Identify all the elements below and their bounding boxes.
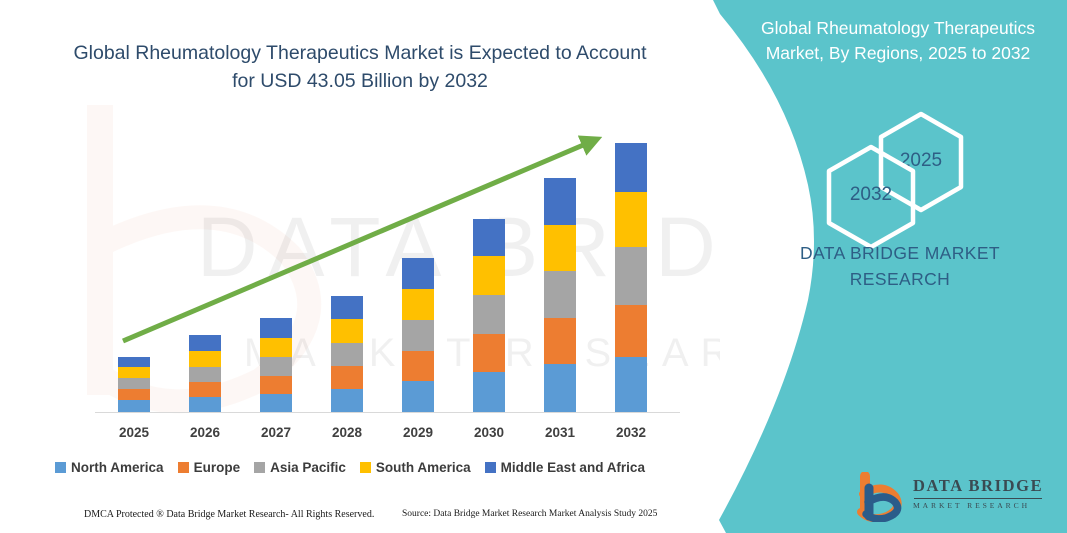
- bar-2031: [544, 178, 576, 412]
- x-axis-label-2030: 2030: [454, 425, 524, 440]
- logo-name: DATA BRIDGE: [913, 476, 1043, 496]
- legend-label: South America: [376, 460, 471, 475]
- x-axis-label-2026: 2026: [170, 425, 240, 440]
- legend-swatch-icon: [360, 462, 371, 473]
- bar-2029: [402, 258, 434, 412]
- bar-segment-europe: [260, 376, 292, 394]
- bar-segment-europe: [544, 318, 576, 364]
- bar-2026: [189, 335, 221, 412]
- panel-title: Global Rheumatology Therapeutics Market,…: [738, 16, 1058, 67]
- bar-segment-asia-pacific: [260, 357, 292, 376]
- bar-segment-middle-east-and-africa: [331, 296, 363, 319]
- bar-segment-middle-east-and-africa: [118, 357, 150, 367]
- bar-segment-europe: [473, 334, 505, 372]
- bar-segment-europe: [402, 351, 434, 381]
- x-axis-line: [95, 412, 680, 413]
- brand-name: DATA BRIDGE MARKET RESEARCH: [750, 240, 1050, 293]
- bar-2025: [118, 357, 150, 412]
- legend-swatch-icon: [178, 462, 189, 473]
- chart-panel: DATA BRIDGE MARKET RESEARCH Global Rheum…: [0, 0, 720, 533]
- bar-segment-north-america: [615, 357, 647, 412]
- hexagon-2032-label: 2032: [823, 184, 919, 206]
- logo-text: DATA BRIDGE MARKET RESEARCH: [913, 476, 1043, 510]
- bar-segment-north-america: [402, 381, 434, 412]
- bar-segment-europe: [118, 389, 150, 400]
- stacked-bar-chart: 20252026202720282029203020312032: [0, 0, 720, 533]
- bar-segment-middle-east-and-africa: [189, 335, 221, 351]
- bar-2032: [615, 143, 647, 412]
- logo-divider: [914, 498, 1042, 499]
- bar-segment-south-america: [260, 338, 292, 357]
- legend-swatch-icon: [485, 462, 496, 473]
- bar-segment-north-america: [189, 397, 221, 412]
- bar-segment-asia-pacific: [189, 367, 221, 382]
- legend-label: North America: [71, 460, 164, 475]
- bar-segment-middle-east-and-africa: [615, 143, 647, 192]
- copyright-notice: DMCA Protected ® Data Bridge Market Rese…: [84, 509, 374, 520]
- bar-segment-europe: [331, 366, 363, 389]
- bar-segment-middle-east-and-africa: [473, 219, 505, 256]
- legend-swatch-icon: [55, 462, 66, 473]
- legend-swatch-icon: [254, 462, 265, 473]
- legend-item-asia-pacific[interactable]: Asia Pacific: [254, 460, 346, 475]
- bar-segment-asia-pacific: [473, 295, 505, 334]
- growth-arrow-icon: [0, 0, 720, 533]
- x-axis-label-2028: 2028: [312, 425, 382, 440]
- bar-segment-asia-pacific: [402, 320, 434, 351]
- bar-segment-asia-pacific: [544, 271, 576, 318]
- bar-segment-north-america: [544, 364, 576, 412]
- x-axis-label-2029: 2029: [383, 425, 453, 440]
- bar-segment-middle-east-and-africa: [402, 258, 434, 289]
- legend-label: Middle East and Africa: [501, 460, 645, 475]
- data-bridge-logo: DATA BRIDGE MARKET RESEARCH: [853, 472, 1053, 524]
- bar-segment-south-america: [615, 192, 647, 247]
- bar-segment-europe: [189, 382, 221, 397]
- bar-segment-asia-pacific: [615, 247, 647, 305]
- bar-segment-north-america: [473, 372, 505, 412]
- legend-item-south-america[interactable]: South America: [360, 460, 471, 475]
- bar-segment-south-america: [189, 351, 221, 367]
- bar-segment-europe: [615, 305, 647, 357]
- x-axis-label-2032: 2032: [596, 425, 666, 440]
- bar-2027: [260, 318, 292, 412]
- legend-item-middle-east-and-africa[interactable]: Middle East and Africa: [485, 460, 645, 475]
- bar-2030: [473, 219, 505, 412]
- chart-legend: North AmericaEuropeAsia PacificSouth Ame…: [0, 460, 700, 475]
- bar-segment-north-america: [260, 394, 292, 412]
- legend-label: Asia Pacific: [270, 460, 346, 475]
- bar-segment-south-america: [331, 319, 363, 343]
- x-axis-label-2027: 2027: [241, 425, 311, 440]
- bar-segment-south-america: [402, 289, 434, 320]
- x-axis-label-2025: 2025: [99, 425, 169, 440]
- bar-segment-asia-pacific: [118, 378, 150, 389]
- legend-label: Europe: [194, 460, 241, 475]
- x-axis-label-2031: 2031: [525, 425, 595, 440]
- bar-segment-south-america: [118, 367, 150, 378]
- legend-item-north-america[interactable]: North America: [55, 460, 164, 475]
- source-note: Source: Data Bridge Market Research Mark…: [402, 509, 657, 519]
- bar-2028: [331, 296, 363, 412]
- bar-segment-middle-east-and-africa: [260, 318, 292, 338]
- legend-item-europe[interactable]: Europe: [178, 460, 241, 475]
- logo-subtitle: MARKET RESEARCH: [913, 501, 1043, 510]
- bar-segment-north-america: [331, 389, 363, 412]
- bar-segment-asia-pacific: [331, 343, 363, 366]
- logo-b-mark-icon: [853, 472, 909, 522]
- bar-segment-north-america: [118, 400, 150, 412]
- brand-panel: Global Rheumatology Therapeutics Market,…: [690, 0, 1067, 533]
- bar-segment-south-america: [473, 256, 505, 295]
- bar-segment-middle-east-and-africa: [544, 178, 576, 225]
- bar-segment-south-america: [544, 225, 576, 271]
